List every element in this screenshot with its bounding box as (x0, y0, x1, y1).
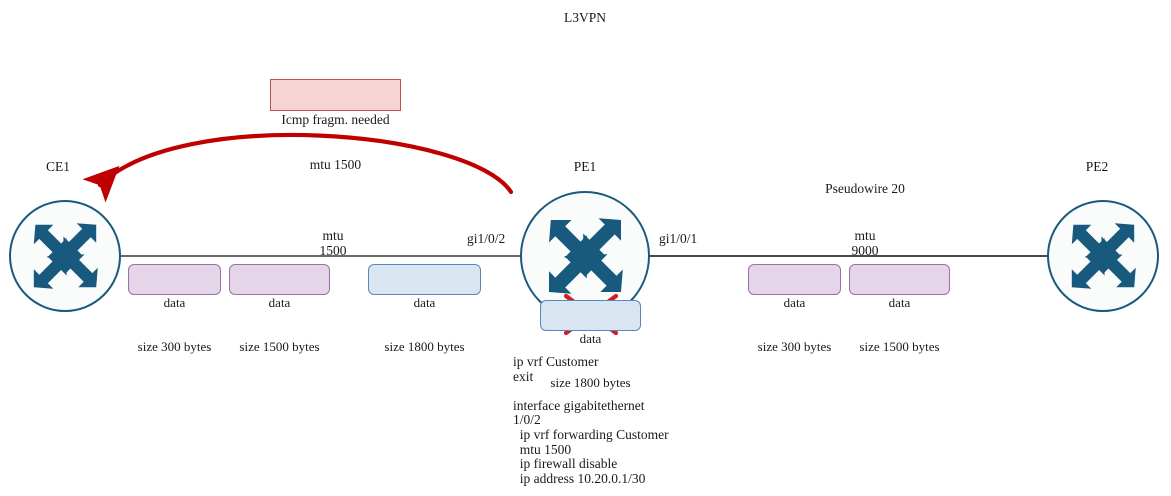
pe1-config-text: ip vrf Customer exit interface gigabitet… (513, 355, 669, 486)
packet-line1: data (749, 296, 840, 311)
packet-line2: size 1500 bytes (850, 340, 949, 355)
icmp-note-line1: Icmp fragm. needed (271, 112, 400, 127)
node-label-pe2: PE2 (1086, 160, 1109, 175)
node-label-pe1: PE1 (574, 160, 597, 175)
packet-line1: data (129, 296, 220, 311)
packet-line1: data (850, 296, 949, 311)
packet-pe2-1500[interactable]: data size 1500 bytes (849, 264, 950, 295)
node-label-ce1: CE1 (46, 160, 70, 175)
packet-line2: size 1500 bytes (230, 340, 329, 355)
packet-line1: data (369, 296, 480, 311)
packet-pe2-300[interactable]: data size 300 bytes (748, 264, 841, 295)
node-pe2[interactable] (1048, 201, 1158, 311)
packet-pe1-1800-dropped[interactable]: data size 1800 bytes (540, 300, 641, 331)
interface-label-gi1-0-1: gi1/0/1 (659, 232, 697, 247)
packet-line2: size 300 bytes (749, 340, 840, 355)
packet-ce1-1800[interactable]: data size 1800 bytes (368, 264, 481, 295)
diagram-title: L3VPN (564, 11, 606, 26)
link-mtu-label-pe1-pe2: mtu 9000 (852, 229, 879, 258)
packet-line2: size 1800 bytes (369, 340, 480, 355)
packet-ce1-300[interactable]: data size 300 bytes (128, 264, 221, 295)
node-ce1[interactable] (10, 201, 120, 311)
service-label-pseudowire: Pseudowire 20 (825, 182, 905, 197)
packet-line1: data (230, 296, 329, 311)
icmp-note-line2: mtu 1500 (271, 157, 400, 172)
interface-label-gi1-0-2: gi1/0/2 (467, 232, 505, 247)
icmp-note[interactable]: Icmp fragm. needed mtu 1500 (270, 79, 401, 111)
packet-line2: size 300 bytes (129, 340, 220, 355)
packet-line1: data (541, 332, 640, 347)
packet-ce1-1500[interactable]: data size 1500 bytes (229, 264, 330, 295)
link-mtu-label-ce1-pe1: mtu 1500 (320, 229, 347, 258)
